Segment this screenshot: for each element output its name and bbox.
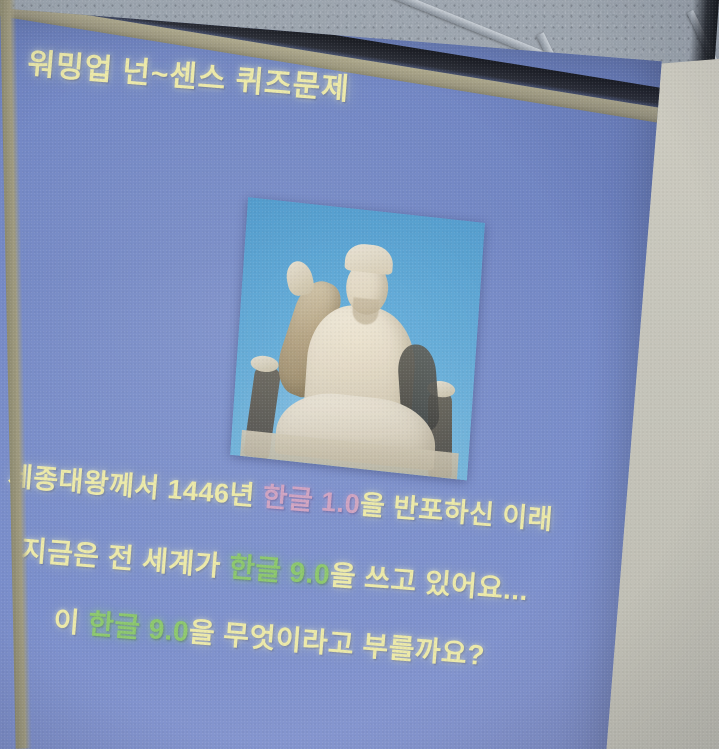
screenshot-root: 워밍업 넌~센스 퀴즈문제 세종대왕께서 (0, 0, 719, 749)
projection-screen: 워밍업 넌~센스 퀴즈문제 세종대왕께서 (0, 6, 662, 749)
line2-segment-3: 을 쓰고 있어요... (329, 559, 530, 606)
line2-segment-1: 지금은 전 세계가 (20, 535, 230, 583)
line3-segment-3: 을 무엇이라고 부를까요? (188, 616, 486, 671)
line1-segment-3: 을 반포하신 이래 (359, 490, 554, 535)
slide-content: 워밍업 넌~센스 퀴즈문제 세종대왕께서 (0, 6, 662, 749)
line1-segment-1: 세종대왕께서 1446년 (7, 461, 264, 511)
line1-highlight-hangul-1-0: 한글 1.0 (262, 482, 362, 520)
line3-highlight-hangul-9-0: 한글 9.0 (87, 608, 190, 647)
slide-title: 워밍업 넌~센스 퀴즈문제 (26, 39, 352, 109)
line3-segment-1: 이 (52, 605, 89, 639)
line2-highlight-hangul-9-0: 한글 9.0 (228, 551, 331, 590)
king-sejong-statue-photo (230, 197, 485, 480)
